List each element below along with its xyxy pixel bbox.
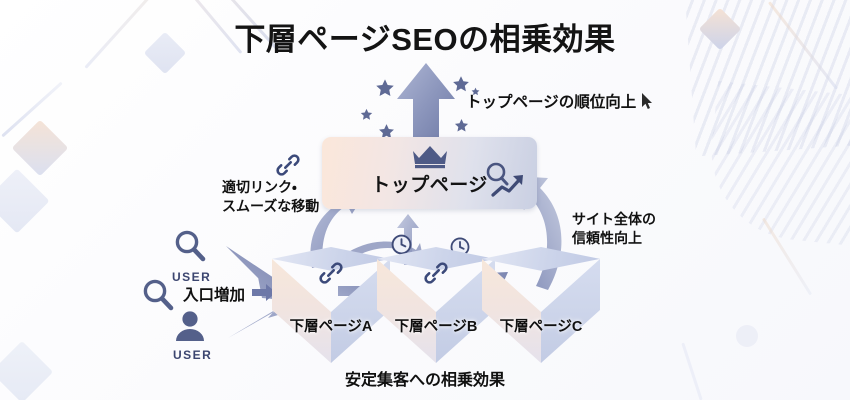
rank-improvement-label: トップページの順位向上 [466, 90, 636, 112]
sub-page-cube-c[interactable]: 下層ページC [482, 247, 600, 373]
site-trust-caption-line1: サイト全体の [572, 210, 656, 229]
link-smooth-caption-line2: スムーズな移動 [222, 197, 319, 216]
magnifier-icon [172, 228, 211, 269]
mouse-cursor-icon [641, 92, 654, 111]
decor-diamond [12, 120, 69, 177]
decor-line [1, 82, 62, 138]
user-person-group: USER [173, 310, 212, 362]
link-smooth-caption-line1: 適切リンク・ [222, 178, 319, 197]
user-label: USER [172, 270, 211, 284]
up-arrow-icon [395, 63, 457, 141]
decor-circle [736, 325, 758, 347]
user-label: USER [173, 348, 212, 362]
link-smooth-caption: 適切リンク・ スムーズな移動 [222, 178, 319, 216]
crown-icon [410, 143, 450, 169]
decor-line [762, 218, 812, 296]
chain-link-icon [318, 260, 344, 291]
chain-link-icon [275, 152, 301, 183]
decor-diamond [0, 168, 50, 233]
site-trust-caption: サイト全体の 信頼性向上 [572, 210, 656, 248]
page-title: 下層ページSEOの相乗効果 [0, 14, 850, 59]
top-page-card[interactable]: トップページ [322, 137, 537, 209]
sub-page-cube-b[interactable]: 下層ページB [377, 247, 495, 373]
sub-page-cube-a[interactable]: 下層ページA [272, 247, 390, 373]
star-icon [375, 78, 395, 98]
cube-label: 下層ページC [470, 315, 612, 336]
cube-right-face [541, 259, 600, 363]
cube-left-face [482, 259, 541, 363]
chain-link-icon [423, 260, 449, 291]
star-icon [360, 108, 373, 121]
user-magnifier-group: USER [172, 228, 211, 284]
site-trust-caption-line2: 信頼性向上 [572, 229, 656, 248]
infographic-canvas: 下層ページSEOの相乗効果 [0, 0, 850, 400]
star-icon [454, 118, 469, 133]
top-page-label: トップページ [322, 170, 537, 197]
magnifier-icon [140, 277, 176, 318]
person-icon [173, 310, 212, 347]
decor-stripes [703, 81, 850, 249]
standalone-magnifier-group [140, 277, 176, 318]
footer-caption: 安定集客への相乗効果 [0, 366, 850, 390]
entry-increase-label: 入口増加 [183, 283, 245, 305]
